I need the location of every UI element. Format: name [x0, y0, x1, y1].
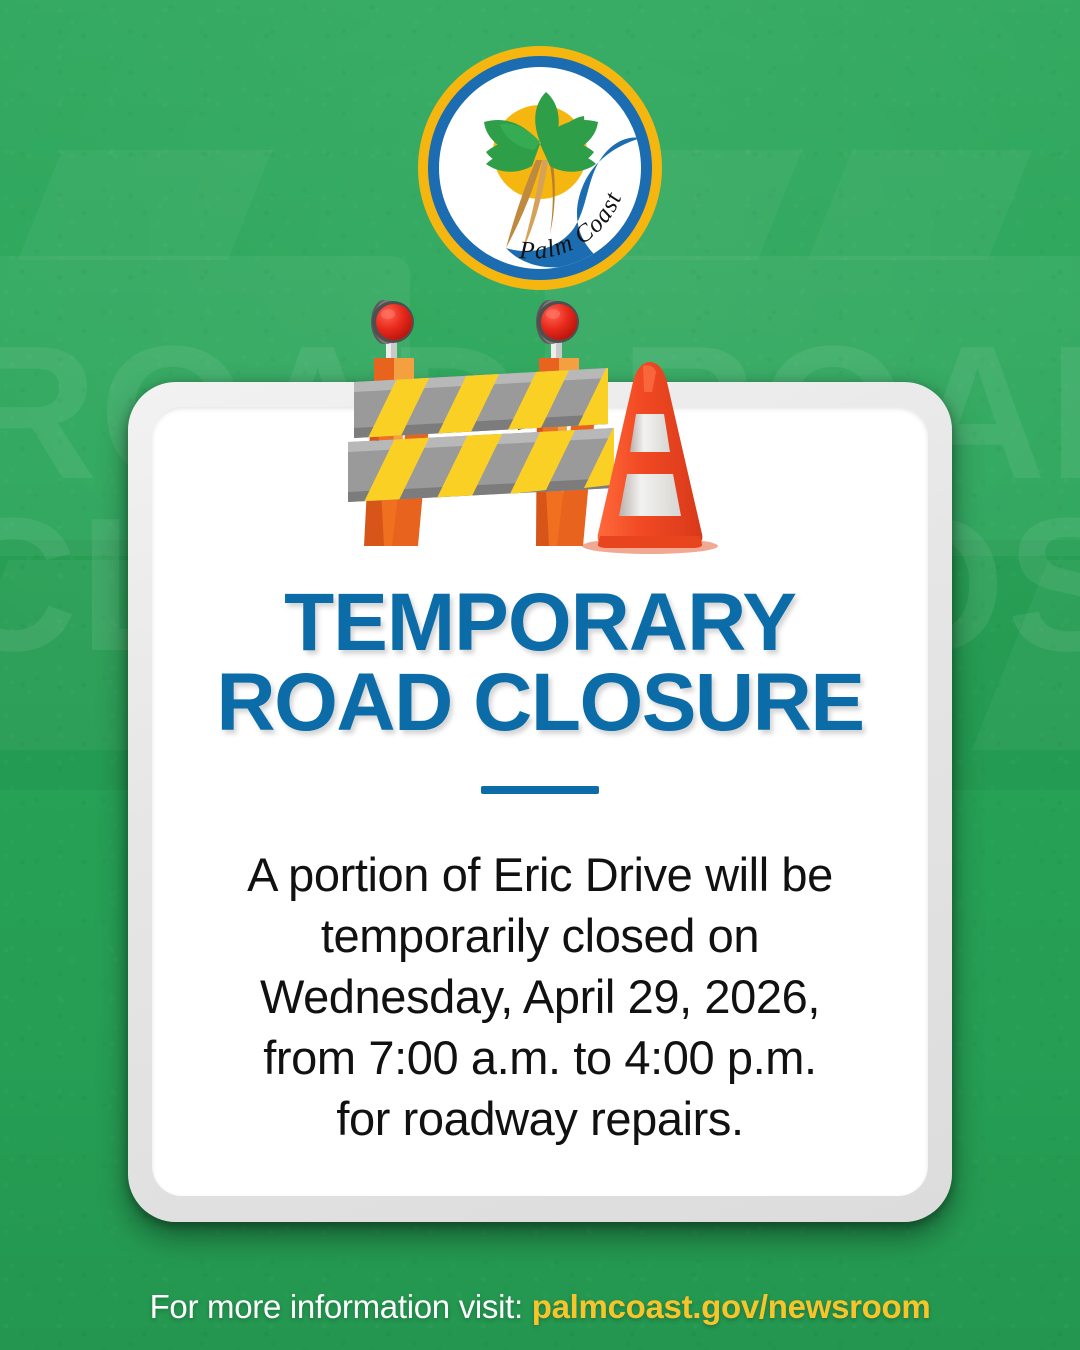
headline-line-2: ROAD CLOSURE — [186, 663, 894, 743]
announcement-content: TEMPORARY ROAD CLOSURE A portion of Eric… — [152, 583, 928, 1149]
palm-coast-logo: Palm Coast — [414, 42, 666, 294]
body-line-4: from 7:00 a.m. to 4:00 p.m. — [186, 1027, 894, 1088]
footer-url[interactable]: palmcoast.gov/newsroom — [532, 1288, 931, 1325]
body-line-1: A portion of Eric Drive will be — [186, 844, 894, 905]
headline-line-1: TEMPORARY — [186, 583, 894, 663]
body-line-5: for roadway repairs. — [186, 1088, 894, 1149]
road-closure-illustration — [336, 296, 744, 554]
body-line-2: temporarily closed on — [186, 905, 894, 966]
footer-info: For more information visit: palmcoast.go… — [0, 1288, 1080, 1326]
body-line-3: Wednesday, April 29, 2026, — [186, 966, 894, 1027]
announcement-body: A portion of Eric Drive will be temporar… — [186, 844, 894, 1149]
footer-label: For more information visit: — [150, 1288, 532, 1325]
barricade-cone-icon — [336, 296, 744, 554]
warning-light-right — [536, 300, 579, 362]
palm-coast-seal-icon: Palm Coast — [414, 42, 666, 294]
warning-light-left — [371, 300, 414, 362]
page-title: TEMPORARY ROAD CLOSURE — [186, 583, 894, 744]
title-divider-rule — [481, 786, 599, 794]
